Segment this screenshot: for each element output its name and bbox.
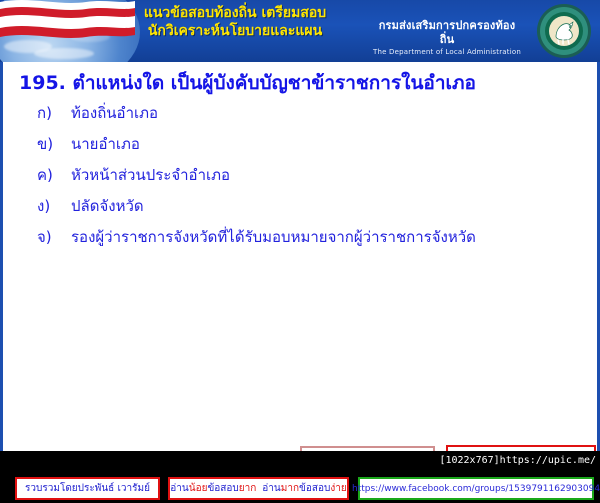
facebook-link-label: https://www.facebook.com/groups/15397911… [352,484,600,494]
motto-segment-3: ข้อสอบ [207,481,238,496]
choice-label: นายอำเภอ [71,137,587,152]
choice-label: ปลัดจังหวัด [71,199,587,214]
watermark-url: https://upic.me/ [500,455,596,466]
cloud-graphic [34,48,94,59]
facebook-link-box[interactable]: https://www.facebook.com/groups/15397911… [358,477,594,500]
choice-key: ก) [37,106,71,121]
choice-key: จ) [37,230,71,245]
choice-option-ngo[interactable]: ง) ปลัดจังหวัด [37,199,587,214]
header-title-line2: นักวิเคราะห์นโยบายและแผน [110,23,360,41]
choice-key: ข) [37,137,71,152]
choice-key: ค) [37,168,71,183]
motto-segment-7: ข้อสอบ [299,481,330,496]
watermark-bar: [1022x767]https://upic.me/ [0,451,600,469]
department-name-english: The Department of Local Administration [372,48,522,56]
question-text: 195. ตำแหน่งใด เป็นผู้บังคับบัญชาข้าราชก… [19,72,587,95]
department-seal-icon [536,3,592,59]
choice-option-kho2[interactable]: ค) หัวหน้าส่วนประจำอำเภอ [37,168,587,183]
choice-key: ง) [37,199,71,214]
choice-option-ka[interactable]: ก) ท้องถิ่นอำเภอ [37,106,587,121]
header-title-line1: แนวข้อสอบท้องถิ่น เตรียมสอบ [144,5,326,21]
slide-container: แนวข้อสอบท้องถิ่น เตรียมสอบ นักวิเคราะห์… [0,0,600,469]
author-credit-label: รวบรวมโดยประพันธ์ เวารัมย์ [25,481,150,496]
question-content-area: 195. ตำแหน่งใด เป็นผู้บังคับบัญชาข้าราชก… [0,62,600,451]
choice-option-kho[interactable]: ข) นายอำเภอ [37,137,587,152]
header-banner: แนวข้อสอบท้องถิ่น เตรียมสอบ นักวิเคราะห์… [0,0,600,62]
motto-segment-6: มาก [281,481,299,496]
motto-segment-8: ง่าย [330,481,346,496]
watermark-dimensions: [1022x767] [439,455,499,466]
choice-label: ท้องถิ่นอำเภอ [71,106,587,121]
motto-segment-2: น้อย [189,481,208,496]
motto-segment-1: อ่าน [170,481,188,496]
choice-list: ก) ท้องถิ่นอำเภอ ข) นายอำเภอ ค) หัวหน้าส… [37,106,587,261]
choice-option-cho[interactable]: จ) รองผู้ว่าราชการจังหวัดที่ได้รับมอบหมา… [37,230,587,245]
department-name: กรมส่งเสริมการปกครองท้องถิ่น The Departm… [372,19,522,56]
author-credit-box: รวบรวมโดยประพันธ์ เวารัมย์ [15,477,160,500]
motto-box: อ่านน้อยข้อสอบยากอ่านมากข้อสอบง่าย [168,477,349,500]
choice-label: รองผู้ว่าราชการจังหวัดที่ได้รับมอบหมายจา… [71,230,587,245]
motto-segment-5: อ่าน [262,481,280,496]
department-name-thai: กรมส่งเสริมการปกครองท้องถิ่น [372,19,522,47]
header-title: แนวข้อสอบท้องถิ่น เตรียมสอบ นักวิเคราะห์… [110,5,360,41]
choice-label: หัวหน้าส่วนประจำอำเภอ [71,168,587,183]
motto-segment-4: ยาก [239,481,257,496]
credits-row: รวบรวมโดยประพันธ์ เวารัมย์ อ่านน้อยข้อสอ… [3,477,600,503]
